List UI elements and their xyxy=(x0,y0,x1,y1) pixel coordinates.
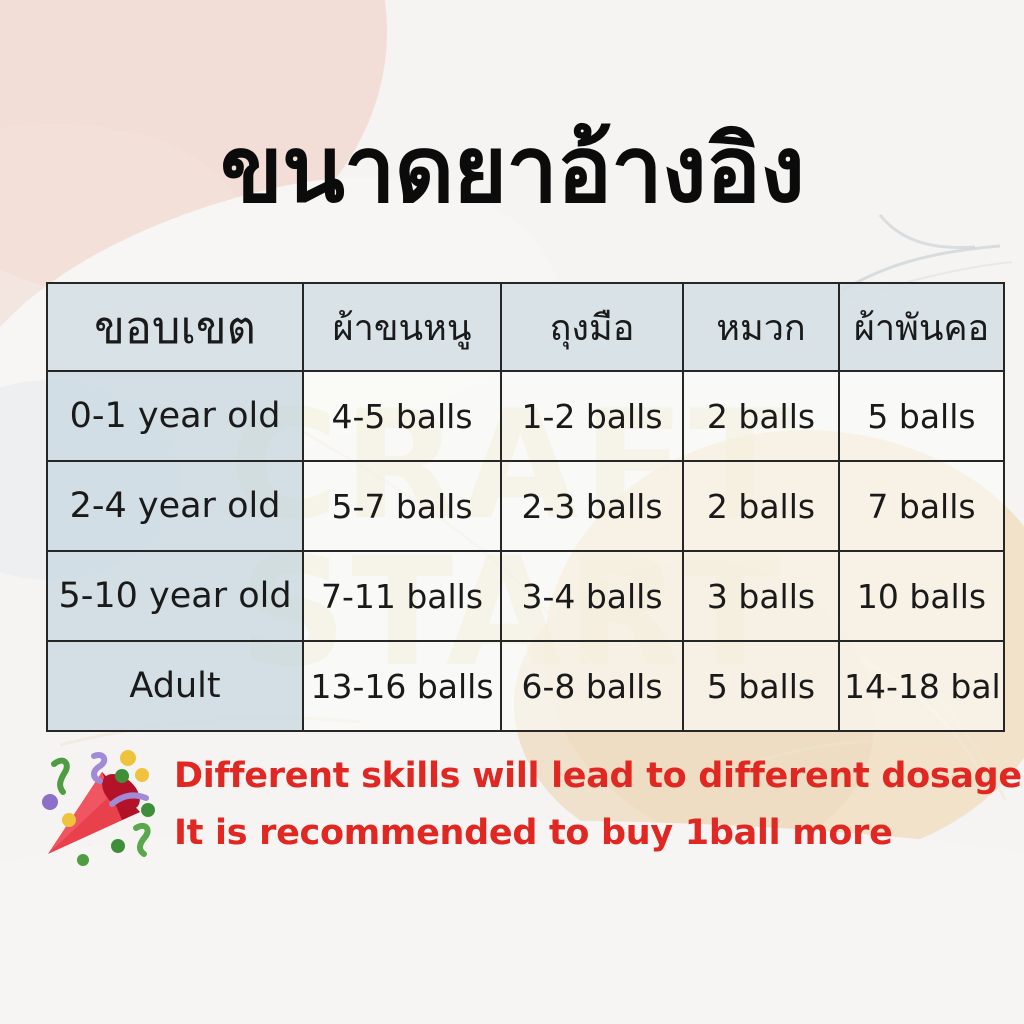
table-row: 0-1 year old 4-5 balls 1-2 balls 2 balls… xyxy=(47,371,1004,461)
cell-range: 2-4 year old xyxy=(47,461,303,551)
cell-gloves: 6-8 balls xyxy=(501,641,683,731)
table-row: 5-10 year old 7-11 balls 3-4 balls 3 bal… xyxy=(47,551,1004,641)
cell-hat: 2 balls xyxy=(683,371,839,461)
cell-scarf: 10 balls xyxy=(839,551,1004,641)
header-cell-gloves: ถุงมือ xyxy=(501,283,683,371)
cell-towel: 5-7 balls xyxy=(303,461,501,551)
cell-scarf: 7 balls xyxy=(839,461,1004,551)
party-popper-icon xyxy=(36,742,168,867)
table-row: 2-4 year old 5-7 balls 2-3 balls 2 balls… xyxy=(47,461,1004,551)
note-line-2: It is recommended to buy 1ball more xyxy=(174,805,1024,862)
header-cell-scarf: ผ้าพันคอ xyxy=(839,283,1004,371)
header-cell-hat: หมวก xyxy=(683,283,839,371)
dosage-table: ขอบเขต ผ้าขนหนู ถุงมือ หมวก ผ้าพันคอ 0-1… xyxy=(46,282,1005,732)
poster-canvas: CRAFT START ขนาดยาอ้างอิง ขอบเขต ผ้าขนหน… xyxy=(0,0,1024,1024)
footer-note: Different skills will lead to different … xyxy=(36,740,1016,865)
cell-towel: 4-5 balls xyxy=(303,371,501,461)
cell-scarf: 5 balls xyxy=(839,371,1004,461)
header-row: ขอบเขต ผ้าขนหนู ถุงมือ หมวก ผ้าพันคอ xyxy=(47,283,1004,371)
cell-range: Adult xyxy=(47,641,303,731)
page-title: ขนาดยาอ้างอิง xyxy=(0,122,1024,219)
cell-scarf: 14-18 balls xyxy=(839,641,1004,731)
cell-hat: 2 balls xyxy=(683,461,839,551)
note-text-block: Different skills will lead to different … xyxy=(174,740,1024,861)
cell-range: 5-10 year old xyxy=(47,551,303,641)
header-cell-towel: ผ้าขนหนู xyxy=(303,283,501,371)
cell-towel: 13-16 balls xyxy=(303,641,501,731)
cell-gloves: 2-3 balls xyxy=(501,461,683,551)
header-cell-range: ขอบเขต xyxy=(47,283,303,371)
cell-hat: 5 balls xyxy=(683,641,839,731)
dosage-table-container: ขอบเขต ผ้าขนหนู ถุงมือ หมวก ผ้าพันคอ 0-1… xyxy=(46,282,1003,722)
cell-towel: 7-11 balls xyxy=(303,551,501,641)
cell-hat: 3 balls xyxy=(683,551,839,641)
table-header: ขอบเขต ผ้าขนหนู ถุงมือ หมวก ผ้าพันคอ xyxy=(47,283,1004,371)
table-row: Adult 13-16 balls 6-8 balls 5 balls 14-1… xyxy=(47,641,1004,731)
cell-gloves: 1-2 balls xyxy=(501,371,683,461)
table-body: 0-1 year old 4-5 balls 1-2 balls 2 balls… xyxy=(47,371,1004,731)
cell-range: 0-1 year old xyxy=(47,371,303,461)
note-line-1: Different skills will lead to different … xyxy=(174,748,1024,805)
cell-gloves: 3-4 balls xyxy=(501,551,683,641)
